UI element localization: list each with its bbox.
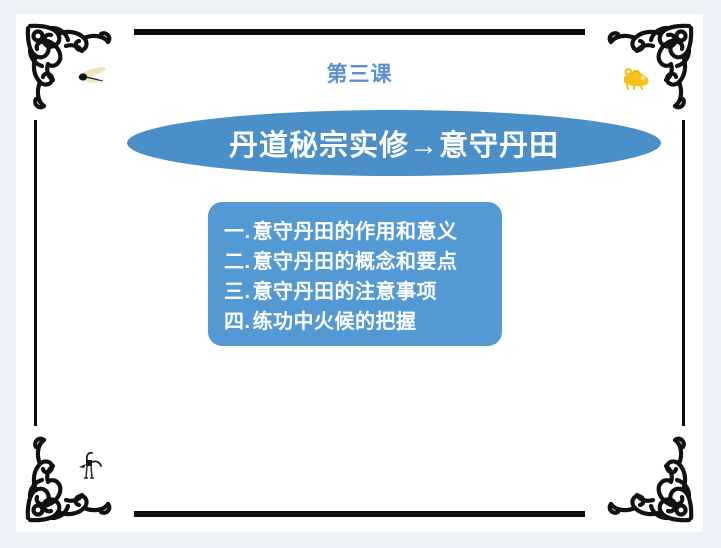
frame-rule-top bbox=[134, 29, 585, 35]
floral-corner-ornament-icon bbox=[601, 430, 697, 526]
frame-rule-bottom bbox=[134, 511, 585, 517]
list-item: 三.意守丹田的注意事项 bbox=[224, 277, 502, 307]
slide-canvas: 第三课 丹道秘宗实修→意守丹田 一.意守丹田的作用和意义 二.意守丹田的概念和要… bbox=[16, 14, 703, 532]
frame-rule-right bbox=[682, 120, 685, 426]
list-item: 二.意守丹田的概念和要点 bbox=[224, 247, 502, 277]
slide-title: 丹道秘宗实修→意守丹田 bbox=[127, 110, 661, 176]
agenda-item-number: 一. bbox=[224, 221, 251, 243]
agenda-item-number: 四. bbox=[224, 311, 251, 333]
list-item: 四.练功中火候的把握 bbox=[224, 307, 502, 337]
agenda-item-label: 意守丹田的概念和要点 bbox=[253, 251, 458, 273]
agenda-item-label: 练功中火候的把握 bbox=[253, 311, 417, 333]
agenda-list: 一.意守丹田的作用和意义 二.意守丹田的概念和要点 三.意守丹田的注意事项 四.… bbox=[208, 202, 502, 346]
agenda-item-label: 意守丹田的作用和意义 bbox=[253, 221, 458, 243]
frame-rule-left bbox=[34, 120, 37, 426]
floral-corner-ornament-icon bbox=[22, 430, 118, 526]
crane-icon bbox=[74, 450, 108, 484]
lesson-label: 第三课 bbox=[16, 58, 703, 88]
agenda-item-number: 二. bbox=[224, 251, 251, 273]
agenda-item-number: 三. bbox=[224, 281, 251, 303]
agenda-item-label: 意守丹田的注意事项 bbox=[253, 281, 438, 303]
list-item: 一.意守丹田的作用和意义 bbox=[224, 217, 502, 247]
